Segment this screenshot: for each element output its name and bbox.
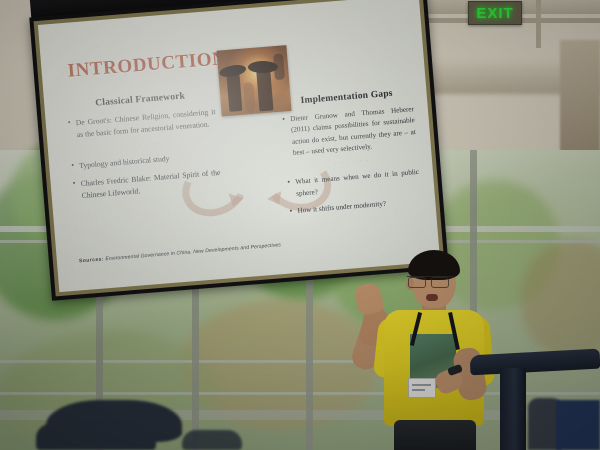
exit-sign: EXIT — [468, 1, 522, 25]
badge-line — [412, 389, 425, 391]
right-column-heading: Implementation Gaps — [281, 87, 413, 108]
presenter-pants — [394, 420, 476, 450]
presenter-glasses — [407, 276, 453, 287]
slide-title: INTRODUCTION — [67, 48, 227, 83]
photo-figure-hat — [218, 63, 247, 79]
right-column-bullets-group-1: Dieter Grunow and Thomas Heberer (2011) … — [282, 104, 417, 160]
photo-figure — [256, 66, 273, 111]
podium-side-panel — [556, 400, 600, 450]
badge-line — [412, 384, 431, 386]
right-column-bullets-group-2: What it means when we do it in public sp… — [287, 167, 422, 217]
presenter-name-badge — [408, 378, 436, 398]
presenter — [352, 250, 512, 450]
presenter-mouth — [426, 294, 438, 301]
left-column-bullets-group-1: De Groot's: Chinese Religion, considerin… — [67, 106, 216, 142]
chair — [36, 424, 156, 450]
podium-column — [500, 368, 526, 450]
source-text: Environmental Governance in China. New D… — [105, 242, 281, 262]
photo-figure — [243, 82, 255, 113]
list-item: How it shifts under modernity? — [289, 196, 421, 218]
presentation-slide: INTRODUCTION Classical Framework De Groo… — [38, 0, 440, 292]
presenter-hand — [353, 282, 385, 317]
chair — [182, 430, 242, 450]
presentation-room-photo: EXIT INTRODUCTION Classical Frame — [0, 0, 600, 450]
slide-source-line: Sources: Environmental Governance in Chi… — [79, 242, 281, 264]
list-item: Dieter Grunow and Thomas Heberer (2011) … — [282, 104, 417, 160]
wall-post — [536, 0, 541, 48]
exit-sign-label: EXIT — [476, 6, 513, 21]
list-item: What it means when we do it in public sp… — [287, 167, 420, 200]
photo-figure — [273, 53, 285, 80]
source-label: Sources: — [79, 256, 104, 264]
slide-right-column: Implementation Gaps Dieter Grunow and Th… — [281, 87, 423, 224]
photo-figure — [226, 71, 242, 112]
list-item: De Groot's: Chinese Religion, considerin… — [67, 106, 216, 142]
